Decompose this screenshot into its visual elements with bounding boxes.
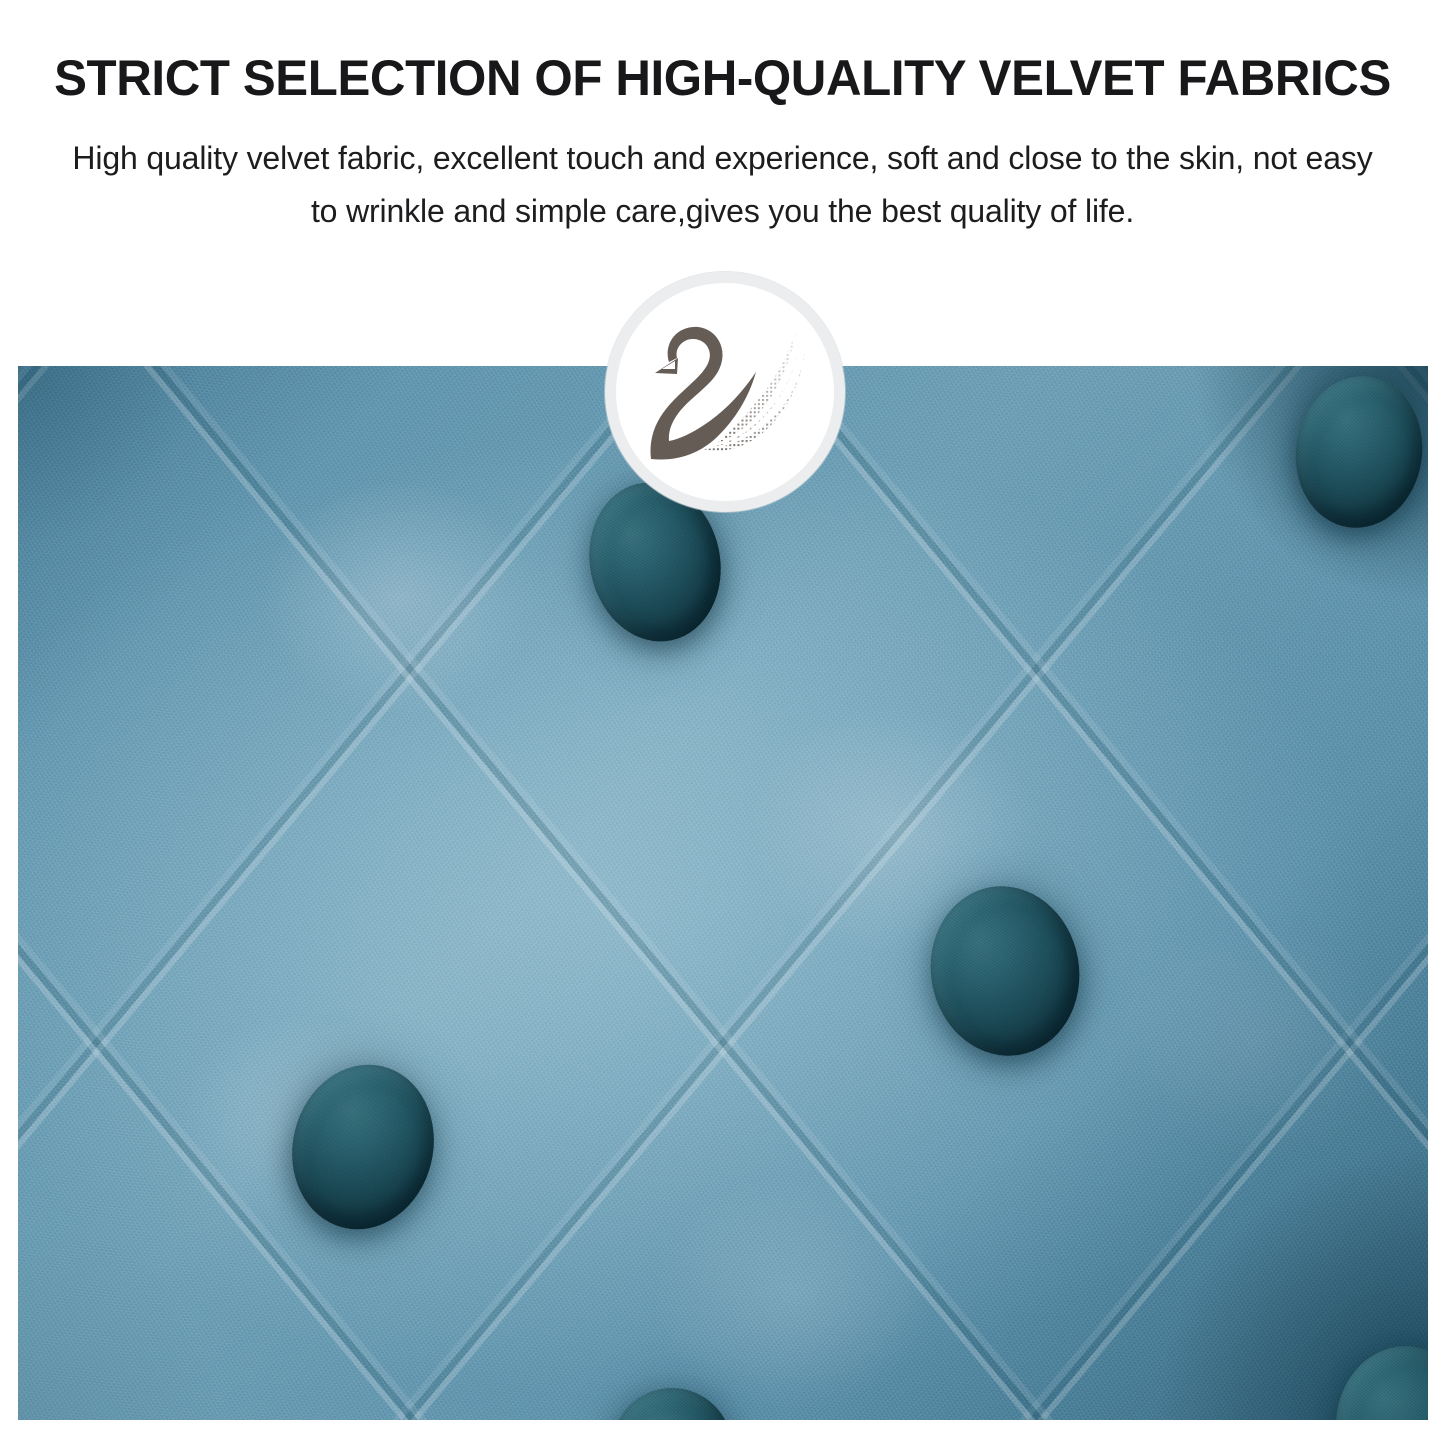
swan-logo-icon xyxy=(639,317,811,467)
fabric-photo xyxy=(18,366,1428,1420)
brand-badge xyxy=(605,272,845,512)
page-subtitle: High quality velvet fabric, excellent to… xyxy=(58,132,1388,238)
page-title: STRICT SELECTION OF HIGH-QUALITY VELVET … xyxy=(11,48,1434,108)
